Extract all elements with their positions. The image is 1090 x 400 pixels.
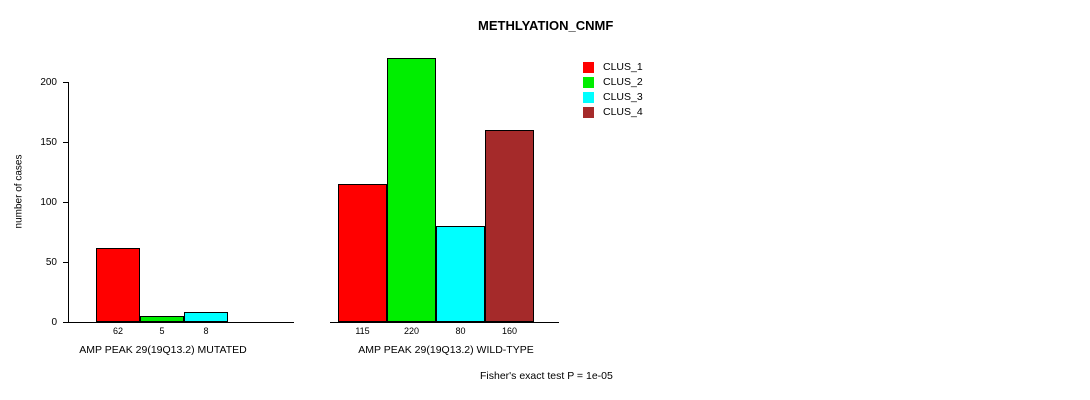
y-axis-title: number of cases bbox=[14, 137, 25, 247]
group-label-mutated: AMP PEAK 29(19Q13.2) MUTATED bbox=[35, 344, 291, 356]
bar-value-group2-clus3: 80 bbox=[436, 326, 485, 336]
y-tick-150 bbox=[63, 142, 68, 143]
bar-value-group1-clus3: 8 bbox=[184, 326, 228, 336]
statistical-test-note: Fisher's exact test P = 1e-05 bbox=[480, 370, 613, 382]
group-label-wildtype: AMP PEAK 29(19Q13.2) WILD-TYPE bbox=[308, 344, 584, 356]
legend-label-clus3: CLUS_3 bbox=[603, 90, 643, 104]
legend-label-clus1: CLUS_1 bbox=[603, 60, 643, 74]
bar-value-group1-clus2: 5 bbox=[140, 326, 184, 336]
x-axis-line-group-2 bbox=[330, 322, 559, 323]
legend-swatch-icon-clus4 bbox=[583, 107, 594, 118]
y-tick-50 bbox=[63, 262, 68, 263]
y-tick-100 bbox=[63, 202, 68, 203]
y-axis-line bbox=[68, 82, 69, 323]
legend-label-clus4: CLUS_4 bbox=[603, 105, 643, 119]
legend-swatch-icon-clus1 bbox=[583, 62, 594, 73]
bar-value-group1-clus1: 62 bbox=[96, 326, 140, 336]
bar-group2-clus2[interactable] bbox=[387, 58, 436, 322]
y-tick-label-50: 50 bbox=[17, 257, 57, 268]
bar-value-group2-clus1: 115 bbox=[338, 326, 387, 336]
bar-group1-clus2[interactable] bbox=[140, 316, 184, 322]
chart-title: METHLYATION_CNMF bbox=[478, 18, 613, 33]
chart-canvas: METHLYATION_CNMF 0 50 100 150 200 number… bbox=[0, 0, 1090, 400]
y-tick-label-200: 200 bbox=[17, 77, 57, 88]
bar-group1-clus3[interactable] bbox=[184, 312, 228, 322]
bar-group1-clus1[interactable] bbox=[96, 248, 140, 322]
bar-value-group2-clus2: 220 bbox=[387, 326, 436, 336]
legend-swatch-icon-clus2 bbox=[583, 77, 594, 88]
y-tick-200 bbox=[63, 82, 68, 83]
x-axis-line-group-1 bbox=[68, 322, 294, 323]
bar-value-group2-clus4: 160 bbox=[485, 326, 534, 336]
legend-label-clus2: CLUS_2 bbox=[603, 75, 643, 89]
bar-group2-clus4[interactable] bbox=[485, 130, 534, 322]
legend-swatch-icon-clus3 bbox=[583, 92, 594, 103]
bar-group2-clus3[interactable] bbox=[436, 226, 485, 322]
y-tick-label-0: 0 bbox=[17, 317, 57, 328]
bar-group2-clus1[interactable] bbox=[338, 184, 387, 322]
